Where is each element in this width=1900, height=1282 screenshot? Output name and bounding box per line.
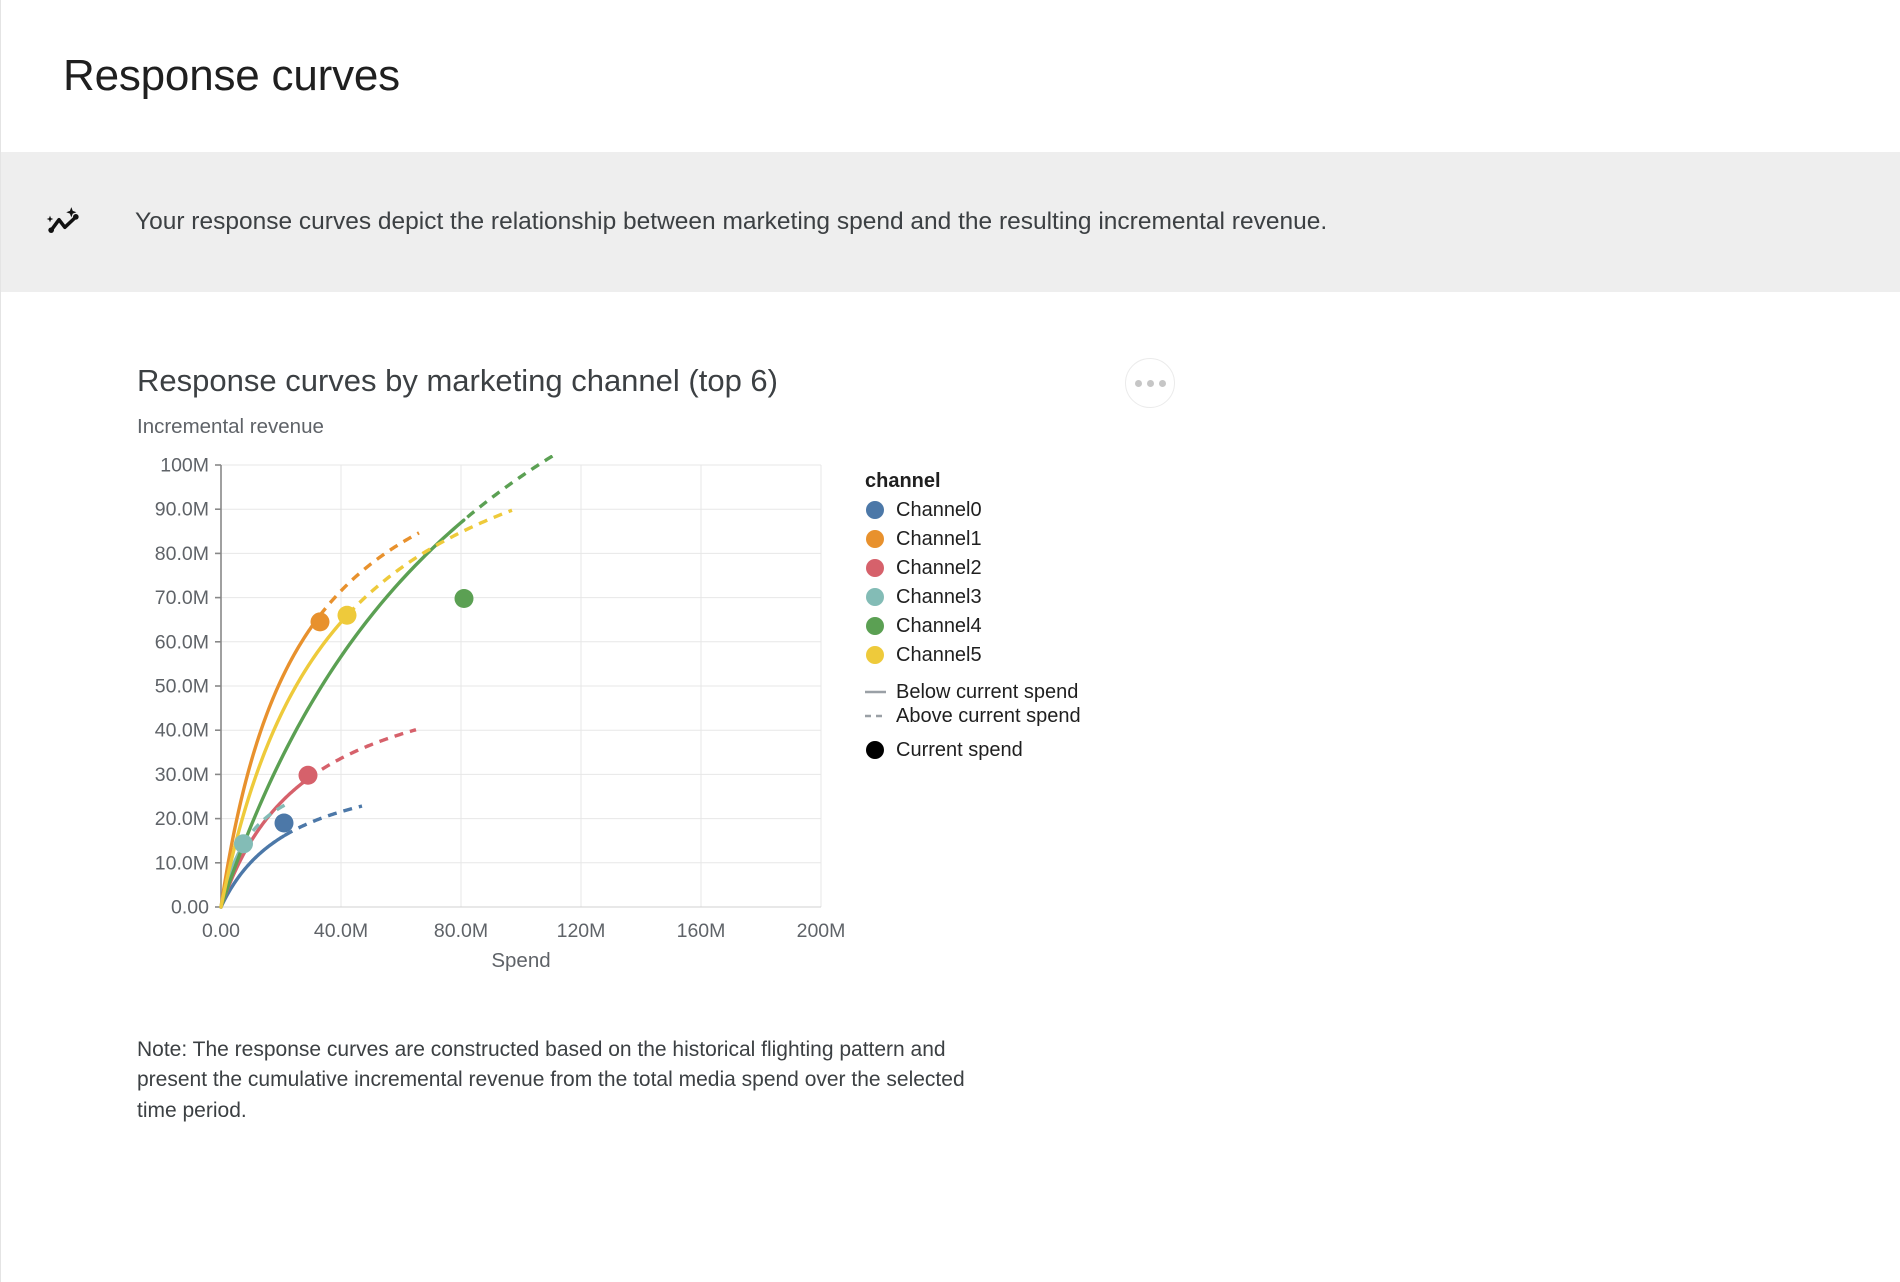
- x-tick-label: 40.0M: [314, 920, 368, 942]
- kebab-dot-icon: [1159, 380, 1166, 387]
- legend-swatch-channel0[interactable]: [866, 501, 884, 519]
- y-tick-label: 10.0M: [155, 852, 209, 874]
- chart-title: Response curves by marketing channel (to…: [137, 362, 1267, 401]
- chart-card: Response curves by marketing channel (to…: [1, 292, 1900, 1126]
- y-tick-label: 100M: [160, 455, 209, 477]
- response-curves-chart[interactable]: 0.0010.0M20.0M30.0M40.0M50.0M60.0M70.0M8…: [137, 455, 1317, 1015]
- legend-linestyle-label: Above current spend: [896, 705, 1081, 727]
- insights-sparkle-icon: [43, 201, 85, 243]
- current-spend-marker-channel0[interactable]: [275, 813, 294, 832]
- legend-swatch-channel1[interactable]: [866, 530, 884, 548]
- legend-label-channel1[interactable]: Channel1: [896, 528, 982, 550]
- legend-swatch-channel3[interactable]: [866, 588, 884, 606]
- current-spend-marker-channel4[interactable]: [455, 589, 474, 608]
- y-tick-label: 90.0M: [155, 498, 209, 520]
- y-tick-label: 80.0M: [155, 543, 209, 565]
- legend-swatch-channel4[interactable]: [866, 617, 884, 635]
- curve-below-current-spend-channel4: [221, 520, 464, 907]
- y-tick-label: 20.0M: [155, 808, 209, 830]
- legend-label-channel2[interactable]: Channel2: [896, 557, 982, 579]
- curve-above-current-spend-channel0: [284, 806, 362, 836]
- chart-note: Note: The response curves are constructe…: [137, 1035, 967, 1126]
- legend-current-spend-label: Current spend: [896, 739, 1023, 761]
- y-tick-label: 40.0M: [155, 719, 209, 741]
- banner-message: Your response curves depict the relation…: [135, 206, 1327, 238]
- chart-svg[interactable]: 0.0010.0M20.0M30.0M40.0M50.0M60.0M70.0M8…: [137, 455, 1317, 1015]
- chart-card-header: Response curves by marketing channel (to…: [137, 362, 1267, 439]
- x-axis-title: Spend: [491, 949, 550, 972]
- response-curves-page: Response curves Your response curves dep…: [0, 0, 1900, 1282]
- legend-swatch-channel2[interactable]: [866, 559, 884, 577]
- legend-label-channel3[interactable]: Channel3: [896, 586, 982, 608]
- curve-above-current-spend-channel1: [320, 533, 419, 615]
- current-spend-marker-channel2[interactable]: [299, 766, 318, 785]
- y-tick-label: 0.00: [171, 896, 209, 918]
- y-tick-label: 60.0M: [155, 631, 209, 653]
- current-spend-marker-channel1[interactable]: [311, 612, 330, 631]
- legend-title: channel: [865, 470, 941, 492]
- legend-swatch-channel5[interactable]: [866, 646, 884, 664]
- legend-label-channel5[interactable]: Channel5: [896, 644, 982, 666]
- x-tick-label: 200M: [797, 920, 846, 942]
- info-banner: Your response curves depict the relation…: [1, 152, 1900, 292]
- legend-label-channel0[interactable]: Channel0: [896, 499, 982, 521]
- page-title: Response curves: [63, 52, 400, 100]
- page-header: Response curves: [1, 0, 1900, 152]
- x-tick-label: 120M: [557, 920, 606, 942]
- curve-above-current-spend-channel2: [309, 729, 416, 778]
- legend-label-channel4[interactable]: Channel4: [896, 615, 982, 637]
- current-spend-marker-channel3[interactable]: [234, 834, 253, 853]
- y-tick-label: 30.0M: [155, 764, 209, 786]
- kebab-dot-icon: [1147, 380, 1154, 387]
- curve-above-current-spend-channel5: [348, 510, 512, 614]
- x-tick-label: 80.0M: [434, 920, 488, 942]
- chart-options-menu-button[interactable]: [1125, 358, 1175, 408]
- x-tick-label: 160M: [677, 920, 726, 942]
- legend-current-spend-swatch: [866, 741, 884, 759]
- chart-subtitle: Incremental revenue: [137, 415, 1267, 439]
- y-tick-label: 50.0M: [155, 675, 209, 697]
- kebab-dot-icon: [1135, 380, 1142, 387]
- legend-linestyle-label: Below current spend: [896, 681, 1078, 703]
- current-spend-marker-channel5[interactable]: [338, 606, 357, 625]
- y-tick-label: 70.0M: [155, 587, 209, 609]
- x-tick-label: 0.00: [202, 920, 240, 942]
- curve-above-current-spend-channel4: [467, 455, 776, 517]
